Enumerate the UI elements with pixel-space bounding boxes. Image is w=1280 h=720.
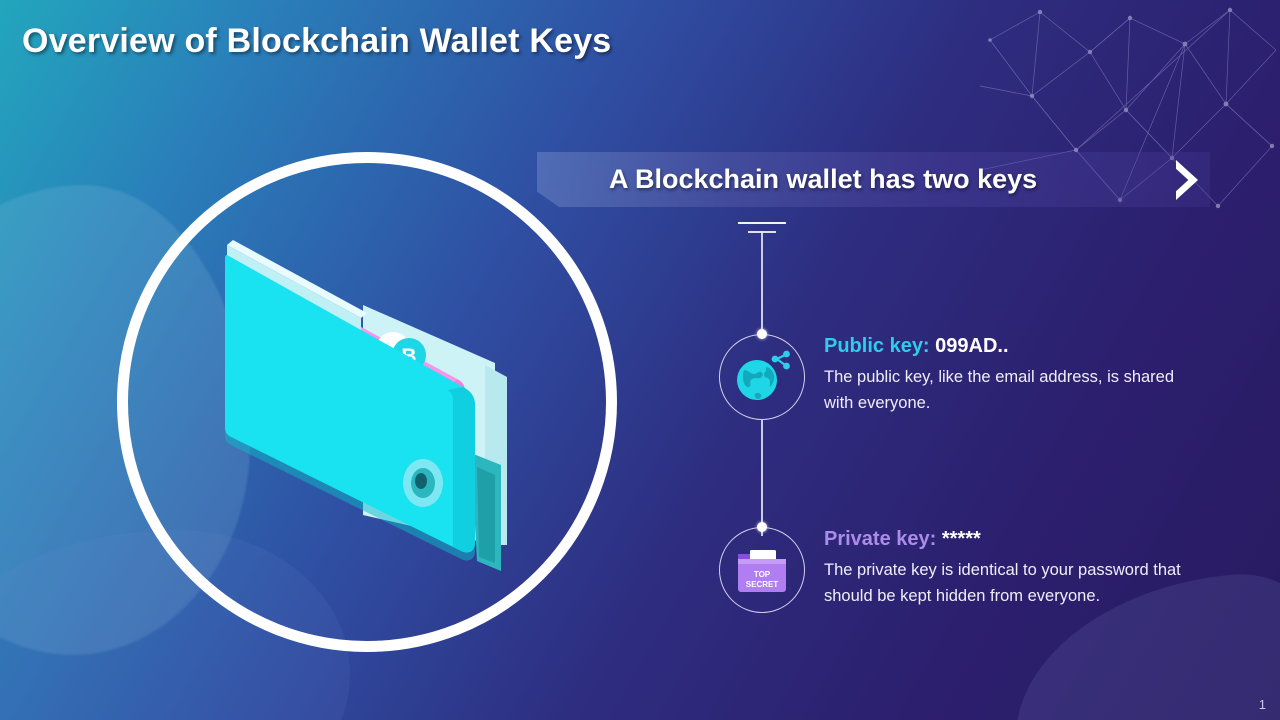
headline-banner-text: A Blockchain wallet has two keys <box>609 164 1037 195</box>
private-key-text-block: Private key: ***** The private key is id… <box>824 527 1189 609</box>
public-key-label: Public key: <box>824 335 930 357</box>
public-key-badge <box>719 334 805 420</box>
connector-cap-long <box>738 222 786 224</box>
public-key-text-block: Public key: 099AD.. The public key, like… <box>824 334 1189 416</box>
folder-label-line2: SECRET <box>746 580 779 589</box>
private-key-label: Private key: <box>824 528 936 550</box>
page-number: 1 <box>1259 697 1266 712</box>
page-title: Overview of Blockchain Wallet Keys <box>22 22 611 61</box>
blockchain-wallet-illustration: Ƀ <box>195 215 545 615</box>
headline-banner: A Blockchain wallet has two keys <box>537 152 1210 207</box>
private-key-value: ***** <box>942 528 981 550</box>
connector-line-to-public-key <box>761 231 763 330</box>
badge-connector-dot <box>757 329 767 339</box>
public-key-value: 099AD.. <box>935 335 1008 357</box>
key-item-public[interactable]: Public key: 099AD.. The public key, like… <box>719 334 1189 420</box>
folder-label-line1: TOP <box>754 570 771 579</box>
connector-line-to-private-key <box>761 420 763 536</box>
public-key-description: The public key, like the email address, … <box>824 365 1189 416</box>
badge-connector-dot <box>757 522 767 532</box>
private-key-heading: Private key: ***** <box>824 528 1189 551</box>
public-key-heading: Public key: 099AD.. <box>824 335 1189 358</box>
globe-share-icon <box>731 348 793 406</box>
private-key-description: The private key is identical to your pas… <box>824 558 1189 609</box>
slide-canvas: Overview of Blockchain Wallet Keys A Blo… <box>0 0 1280 720</box>
key-item-private[interactable]: TOP SECRET Private key: ***** The privat… <box>719 527 1189 613</box>
private-key-badge: TOP SECRET <box>719 527 805 613</box>
top-secret-folder-icon: TOP SECRET <box>734 544 790 596</box>
